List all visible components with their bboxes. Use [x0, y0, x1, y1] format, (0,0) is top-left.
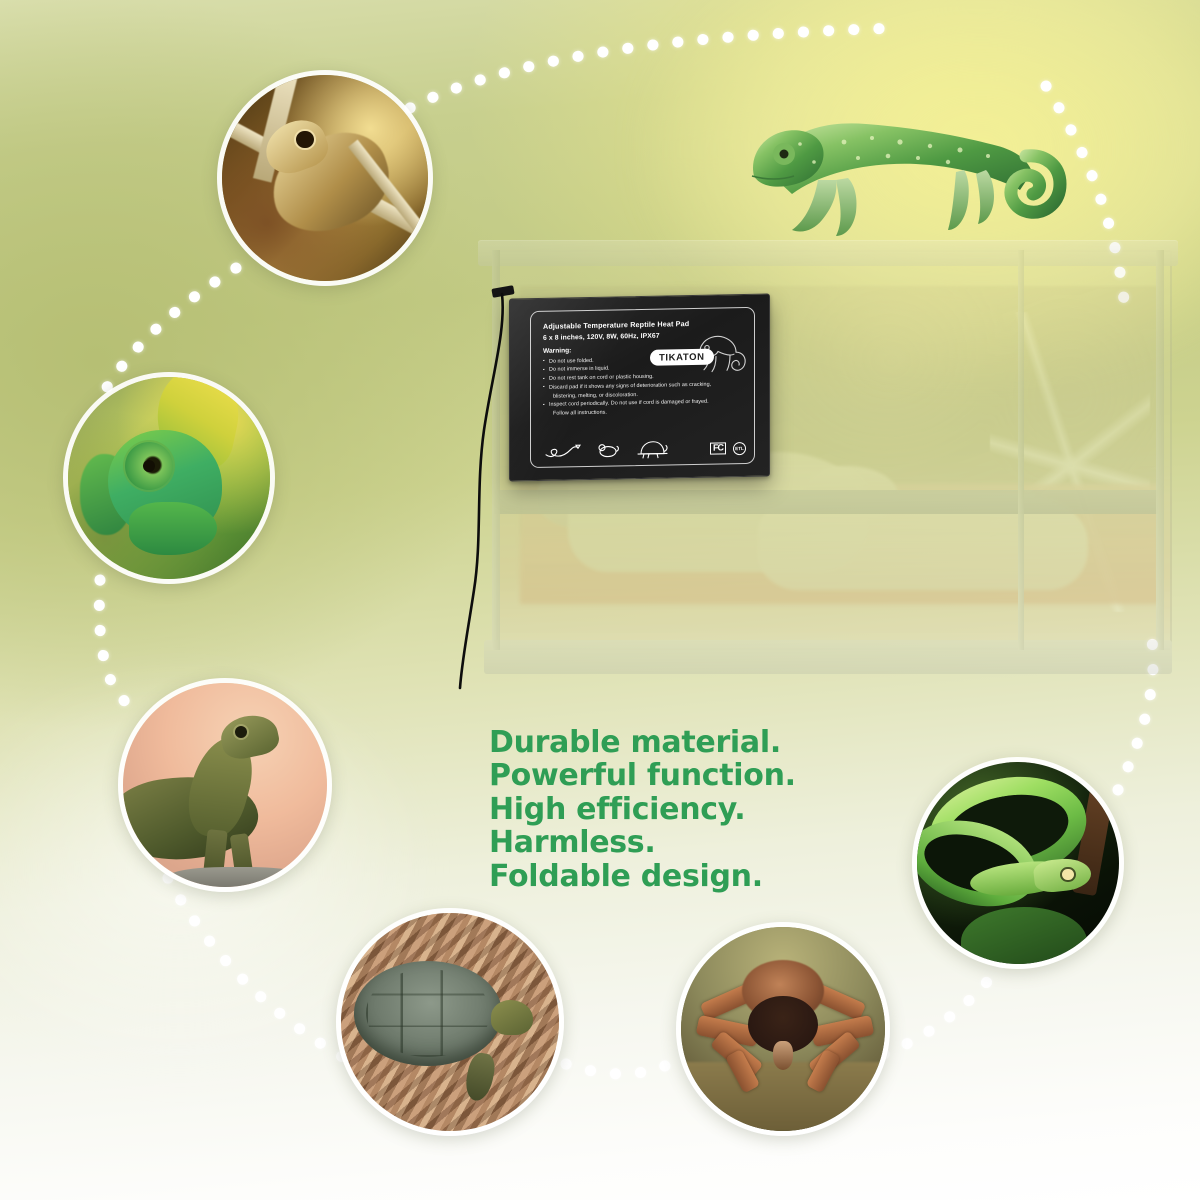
tagline-line: Harmless. [489, 826, 919, 859]
tagline-line: Powerful function. [489, 759, 919, 792]
terrarium-mid-rail [494, 490, 1158, 514]
terrarium-post-right [1156, 250, 1164, 650]
feature-tagline: Durable material. Powerful function. Hig… [489, 726, 919, 893]
brand-name: TIKATON [650, 349, 714, 366]
bubble-crested-lizard [118, 678, 332, 892]
heat-pad-title: Adjustable Temperature Reptile Heat Pad [543, 318, 744, 332]
crested-lizard-photo [123, 683, 327, 887]
garden-lizard-photo [222, 75, 428, 281]
product-infographic: Adjustable Temperature Reptile Heat Pad … [0, 0, 1200, 1200]
snake-icon [545, 443, 581, 460]
fcc-mark: FC [710, 442, 726, 454]
certification-marks: FC ETL [710, 441, 746, 455]
heat-pad-icon-row: FC ETL [545, 439, 746, 461]
bubble-pit-viper [912, 757, 1124, 969]
etl-mark: ETL [733, 441, 746, 454]
tagline-line: Durable material. [489, 726, 919, 759]
pit-viper-photo [917, 762, 1119, 964]
bubble-veiled-chameleon [63, 372, 275, 584]
veiled-chameleon-photo [68, 377, 270, 579]
terrarium-post-left [492, 250, 500, 650]
mouse-icon [597, 442, 619, 458]
bubble-garden-lizard [217, 70, 433, 286]
turtle-icon [635, 440, 669, 459]
bubble-turtle [336, 908, 564, 1136]
tarantula-photo [681, 927, 885, 1131]
terrarium-post-mid [1018, 250, 1024, 650]
chameleon-on-lid-icon [748, 84, 1068, 259]
brand-logo: TIKATON [650, 334, 748, 384]
reptile-heat-pad: Adjustable Temperature Reptile Heat Pad … [509, 293, 770, 481]
terrarium-base [484, 640, 1172, 674]
tagline-line: Foldable design. [489, 860, 919, 893]
tagline-line: High efficiency. [489, 793, 919, 826]
turtle-photo [341, 913, 559, 1131]
heat-pad-label: Adjustable Temperature Reptile Heat Pad … [530, 307, 755, 468]
bubble-tarantula [676, 922, 890, 1136]
